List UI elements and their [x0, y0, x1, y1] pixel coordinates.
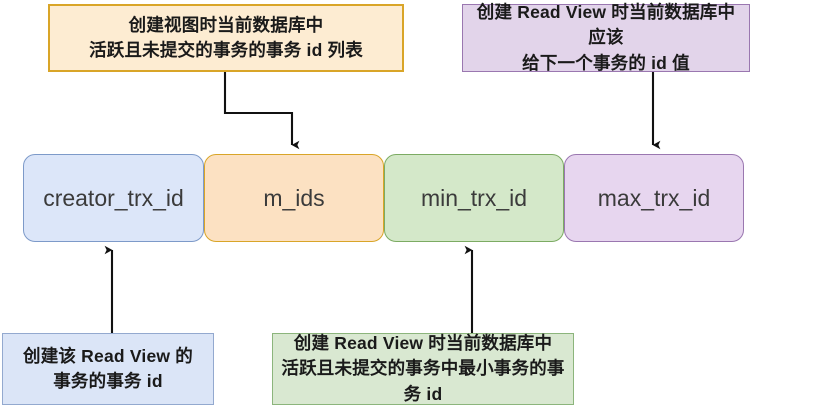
note-max-trx-id: 创建 Read View 时当前数据库中应该 给下一个事务的 id 值	[462, 4, 750, 72]
note-max-trx-id-line1: 创建 Read View 时当前数据库中应该	[477, 2, 735, 47]
note-m-ids-line1: 创建视图时当前数据库中	[129, 15, 324, 35]
field-creator-trx-id: creator_trx_id	[23, 154, 204, 242]
note-min-trx-id-line1: 创建 Read View 时当前数据库中	[294, 333, 552, 353]
note-creator-trx-id-line1: 创建该 Read View 的	[23, 346, 193, 366]
note-creator-trx-id: 创建该 Read View 的 事务的事务 id	[2, 333, 214, 405]
field-creator-trx-id-label: creator_trx_id	[43, 185, 184, 212]
field-max-trx-id-label: max_trx_id	[598, 185, 710, 212]
field-max-trx-id: max_trx_id	[564, 154, 744, 242]
note-max-trx-id-line2: 给下一个事务的 id 值	[522, 53, 690, 73]
note-min-trx-id: 创建 Read View 时当前数据库中 活跃且未提交的事务中最小事务的事务 i…	[272, 333, 574, 405]
note-min-trx-id-line2: 活跃且未提交的事务中最小事务的事务 id	[281, 358, 564, 403]
field-min-trx-id-label: min_trx_id	[421, 185, 527, 212]
field-m-ids-label: m_ids	[263, 185, 324, 212]
note-m-ids: 创建视图时当前数据库中 活跃且未提交的事务的事务 id 列表	[48, 4, 404, 72]
m-ids-connector	[225, 72, 292, 145]
read-view-diagram: 创建视图时当前数据库中 活跃且未提交的事务的事务 id 列表 创建 Read V…	[0, 0, 840, 407]
note-m-ids-line2: 活跃且未提交的事务的事务 id 列表	[89, 40, 363, 60]
field-min-trx-id: min_trx_id	[384, 154, 564, 242]
field-m-ids: m_ids	[204, 154, 384, 242]
note-creator-trx-id-line2: 事务的事务 id	[53, 371, 163, 391]
